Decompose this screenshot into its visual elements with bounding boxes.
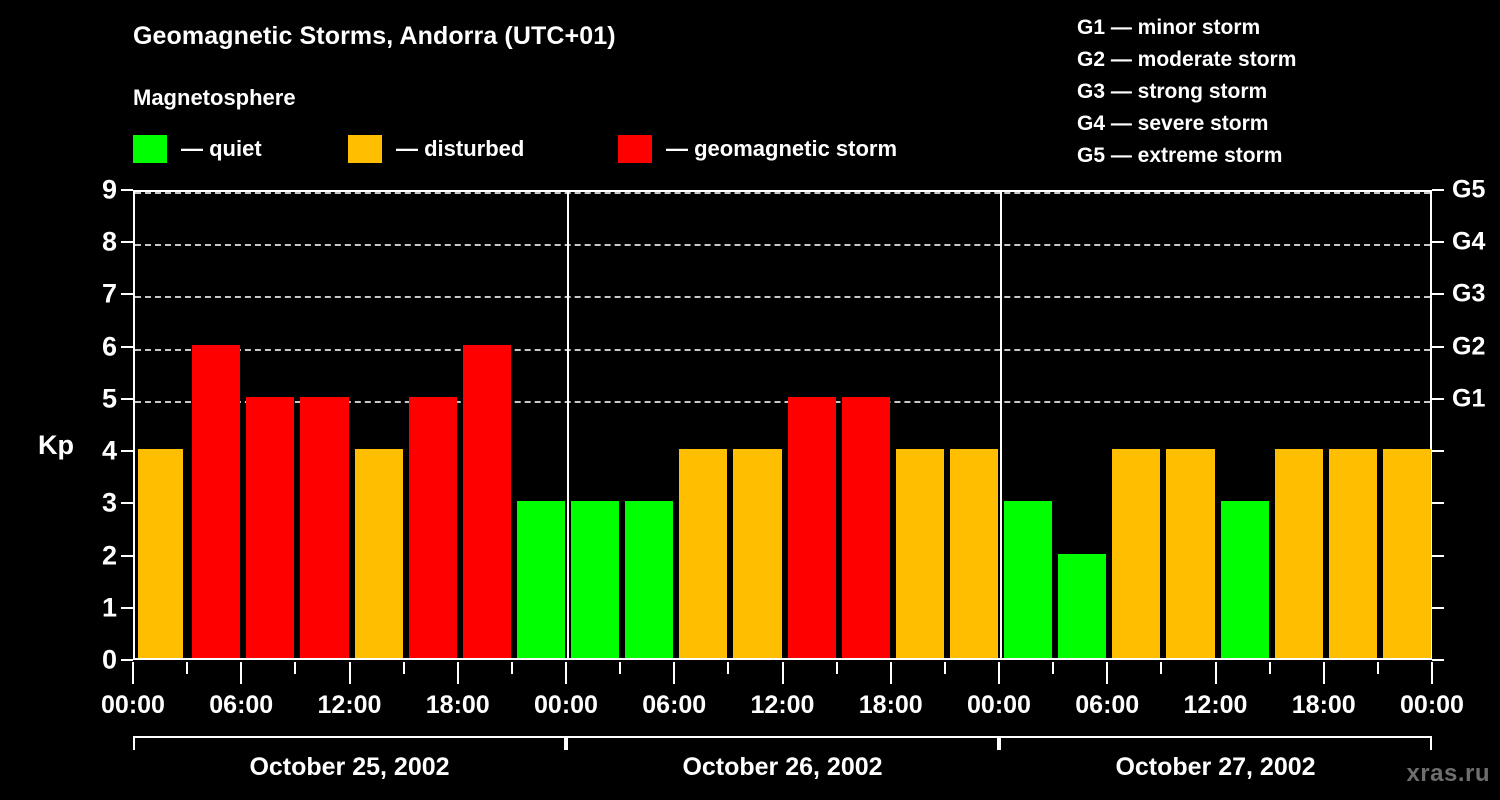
y-tick-label: 5 (77, 383, 117, 414)
g-tick-mark-minor (1432, 607, 1444, 609)
y-tick-mark (121, 189, 133, 191)
y-tick-mark (121, 607, 133, 609)
chart-subtitle: Magnetosphere (133, 85, 296, 111)
plot-area (133, 190, 1432, 660)
g-tick-label: G1 (1452, 384, 1485, 413)
x-tick-label: 00:00 (967, 691, 1031, 720)
y-tick-mark (121, 450, 133, 452)
kp-bar (1275, 449, 1323, 658)
x-tick-mark-minor (1377, 662, 1379, 674)
x-tick-mark (349, 662, 351, 684)
day-bracket (566, 736, 999, 750)
x-tick-mark (1215, 662, 1217, 684)
kp-bar (896, 449, 944, 658)
x-tick-mark-minor (294, 662, 296, 674)
y-tick-label: 7 (77, 279, 117, 310)
x-tick-mark (1106, 662, 1108, 684)
x-tick-mark-minor (403, 662, 405, 674)
y-tick-mark (121, 502, 133, 504)
g-tick-mark-minor (1432, 502, 1444, 504)
x-tick-mark-minor (511, 662, 513, 674)
y-tick-label: 2 (77, 540, 117, 571)
x-tick-mark-minor (1269, 662, 1271, 674)
x-tick-mark (565, 662, 567, 684)
x-tick-label: 00:00 (534, 691, 598, 720)
day-label: October 27, 2002 (1115, 753, 1315, 782)
g-scale-legend: G1 — minor stormG2 — moderate stormG3 — … (1077, 12, 1296, 172)
gridline (135, 349, 1430, 351)
g-tick-label: G3 (1452, 280, 1485, 309)
x-tick-label: 06:00 (209, 691, 273, 720)
g-tick-mark (1432, 346, 1444, 348)
y-tick-mark (121, 398, 133, 400)
y-tick-mark (121, 241, 133, 243)
legend-item-label: — geomagnetic storm (666, 136, 897, 162)
kp-bar (300, 397, 348, 658)
g-tick-mark (1432, 189, 1444, 191)
kp-bar (517, 501, 565, 658)
x-tick-mark-minor (836, 662, 838, 674)
g-scale-row: G1 — minor storm (1077, 12, 1296, 44)
kp-bar (355, 449, 403, 658)
day-bracket (133, 736, 566, 750)
g-scale-row: G5 — extreme storm (1077, 140, 1296, 172)
x-tick-label: 12:00 (318, 691, 382, 720)
day-divider (1000, 192, 1002, 658)
kp-bar (733, 449, 781, 658)
x-tick-label: 12:00 (751, 691, 815, 720)
legend-item: — quiet (133, 133, 262, 165)
g-tick-label: G2 (1452, 332, 1485, 361)
x-tick-label: 18:00 (426, 691, 490, 720)
kp-bar (1112, 449, 1160, 658)
x-tick-mark-minor (619, 662, 621, 674)
x-tick-mark (1323, 662, 1325, 684)
g-tick-label: G5 (1452, 176, 1485, 205)
x-tick-label: 06:00 (642, 691, 706, 720)
y-axis-title: Kp (38, 430, 74, 461)
kp-bar (1221, 501, 1269, 658)
kp-bar (788, 397, 836, 658)
g-scale-row: G3 — strong storm (1077, 76, 1296, 108)
page-title: Geomagnetic Storms, Andorra (UTC+01) (133, 22, 616, 51)
kp-bar (1004, 501, 1052, 658)
kp-bar (1383, 449, 1431, 658)
g-tick-mark (1432, 293, 1444, 295)
disturbed-swatch (348, 135, 382, 163)
y-tick-label: 9 (77, 175, 117, 206)
x-tick-mark-minor (1160, 662, 1162, 674)
g-scale-row: G4 — severe storm (1077, 108, 1296, 140)
x-tick-mark (673, 662, 675, 684)
x-tick-label: 00:00 (101, 691, 165, 720)
legend-item-label: — quiet (181, 136, 262, 162)
kp-bar (246, 397, 294, 658)
x-tick-label: 18:00 (1292, 691, 1356, 720)
legend-item: — geomagnetic storm (618, 133, 897, 165)
y-tick-mark (121, 293, 133, 295)
kp-bar (463, 345, 511, 658)
x-tick-label: 18:00 (859, 691, 923, 720)
kp-bar (1166, 449, 1214, 658)
day-divider (567, 192, 569, 658)
g-tick-mark-minor (1432, 555, 1444, 557)
y-tick-mark (121, 346, 133, 348)
gridline (135, 244, 1430, 246)
kp-bar (138, 449, 183, 658)
x-tick-mark (132, 662, 134, 684)
g-tick-mark-minor (1432, 659, 1444, 661)
x-tick-mark-minor (186, 662, 188, 674)
day-label: October 25, 2002 (249, 753, 449, 782)
geomagnetic-storm-chart: Geomagnetic Storms, Andorra (UTC+01) Mag… (0, 0, 1500, 800)
x-tick-label: 00:00 (1400, 691, 1464, 720)
y-tick-mark (121, 555, 133, 557)
y-tick-label: 1 (77, 592, 117, 623)
x-tick-mark-minor (727, 662, 729, 674)
kp-bar (842, 397, 890, 658)
gridline (135, 192, 1430, 194)
g-tick-mark (1432, 398, 1444, 400)
kp-bar (192, 345, 240, 658)
y-tick-label: 3 (77, 488, 117, 519)
watermark: xras.ru (1406, 760, 1490, 788)
kp-bar (1329, 449, 1377, 658)
kp-bar (625, 501, 673, 658)
x-tick-mark (782, 662, 784, 684)
x-tick-mark (1431, 662, 1433, 684)
kp-bar (950, 449, 998, 658)
y-tick-mark (121, 659, 133, 661)
gridline (135, 296, 1430, 298)
legend-item-label: — disturbed (396, 136, 524, 162)
x-tick-label: 06:00 (1075, 691, 1139, 720)
y-tick-label: 6 (77, 331, 117, 362)
day-label: October 26, 2002 (682, 753, 882, 782)
kp-bar (571, 501, 619, 658)
x-tick-mark (457, 662, 459, 684)
g-tick-label: G4 (1452, 228, 1485, 257)
x-tick-mark-minor (1052, 662, 1054, 674)
day-bracket (999, 736, 1432, 750)
g-tick-mark (1432, 241, 1444, 243)
y-tick-label: 0 (77, 645, 117, 676)
x-tick-mark-minor (944, 662, 946, 674)
quiet-swatch (133, 135, 167, 163)
x-tick-label: 12:00 (1184, 691, 1248, 720)
kp-bar (1058, 554, 1106, 658)
g-scale-row: G2 — moderate storm (1077, 44, 1296, 76)
g-tick-mark-minor (1432, 450, 1444, 452)
kp-bar (679, 449, 727, 658)
x-tick-mark (998, 662, 1000, 684)
x-tick-mark (240, 662, 242, 684)
storm-swatch (618, 135, 652, 163)
kp-bar (409, 397, 457, 658)
y-tick-label: 4 (77, 436, 117, 467)
x-tick-mark (890, 662, 892, 684)
y-tick-label: 8 (77, 227, 117, 258)
legend-item: — disturbed (348, 133, 524, 165)
